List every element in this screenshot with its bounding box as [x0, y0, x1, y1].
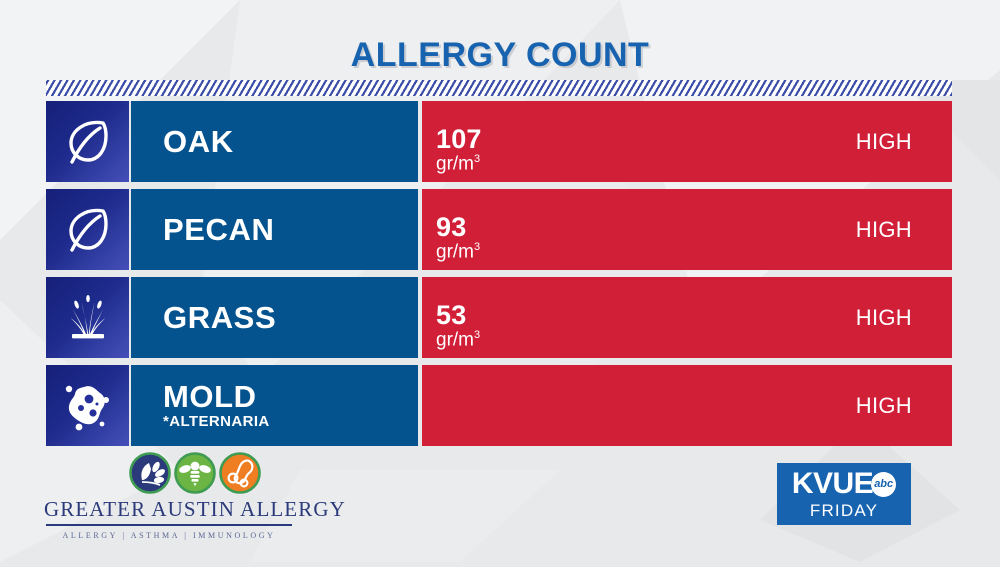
allergen-icon-tile [46, 365, 131, 446]
status-badge: HIGH [856, 129, 912, 155]
peanut-icon [219, 452, 261, 494]
abc-network-icon: abc [871, 472, 896, 497]
allergen-count: 93 gr/m3 [436, 214, 480, 261]
sponsor-logo: GREATER AUSTIN ALLERGY ALLERGY | ASTHMA … [44, 452, 294, 540]
allergen-count-unit: gr/m3 [436, 330, 480, 349]
table-row: GRASS 53 gr/m3 HIGH [46, 277, 952, 358]
status-badge: HIGH [856, 217, 912, 243]
allergen-label-panel: GRASS [131, 277, 422, 358]
allergen-count-number: 93 [436, 214, 480, 241]
sponsor-name: GREATER AUSTIN ALLERGY [44, 497, 294, 522]
leaf-icon [65, 116, 111, 168]
allergen-label-panel: MOLD *ALTERNARIA [131, 365, 422, 446]
status-badge: HIGH [856, 305, 912, 331]
allergen-name: MOLD [163, 381, 418, 413]
allergen-count-number: 107 [436, 126, 482, 153]
allergen-value-panel: 53 gr/m3 HIGH [422, 277, 952, 358]
station-logo-top: KVUE abc [792, 469, 896, 499]
allergen-subtitle: *ALTERNARIA [163, 413, 418, 430]
station-day-label: FRIDAY [810, 502, 878, 519]
leaf-icon [65, 204, 111, 256]
allergen-value-panel: 93 gr/m3 HIGH [422, 189, 952, 270]
allergen-count-unit: gr/m3 [436, 154, 482, 173]
allergen-table: OAK 107 gr/m3 HIGH PEC [46, 101, 952, 453]
allergen-label-panel: PECAN [131, 189, 422, 270]
table-row: MOLD *ALTERNARIA HIGH [46, 365, 952, 446]
allergen-icon-tile [46, 189, 131, 270]
sponsor-divider [46, 524, 292, 526]
allergen-icon-tile [46, 277, 131, 358]
table-row: OAK 107 gr/m3 HIGH [46, 101, 952, 182]
pollen-leaf-icon [129, 452, 171, 494]
allergen-name: PECAN [163, 214, 418, 246]
status-badge: HIGH [856, 393, 912, 419]
grass-icon [64, 293, 112, 343]
allergen-count-unit: gr/m3 [436, 242, 480, 261]
allergen-name: GRASS [163, 302, 418, 334]
mold-spore-icon [62, 380, 114, 432]
bee-icon [174, 452, 216, 494]
hatched-divider [46, 80, 952, 96]
allergen-count: 53 gr/m3 [436, 302, 480, 349]
allergen-count: 107 gr/m3 [436, 126, 482, 173]
allergen-count-number: 53 [436, 302, 480, 329]
allergen-label-panel: OAK [131, 101, 422, 182]
page-title: ALLERGY COUNT [0, 36, 1000, 75]
allergen-icon-tile [46, 101, 131, 182]
station-call-sign: KVUE [792, 469, 873, 499]
allergen-value-panel: HIGH [422, 365, 952, 446]
allergen-name: OAK [163, 126, 418, 158]
sponsor-tagline: ALLERGY | ASTHMA | IMMUNOLOGY [44, 531, 294, 540]
table-row: PECAN 93 gr/m3 HIGH [46, 189, 952, 270]
sponsor-badges [96, 452, 294, 494]
station-logo: KVUE abc FRIDAY [777, 463, 911, 525]
allergen-value-panel: 107 gr/m3 HIGH [422, 101, 952, 182]
allergy-count-graphic: ALLERGY COUNT OAK 107 gr/m3 [0, 0, 1000, 562]
